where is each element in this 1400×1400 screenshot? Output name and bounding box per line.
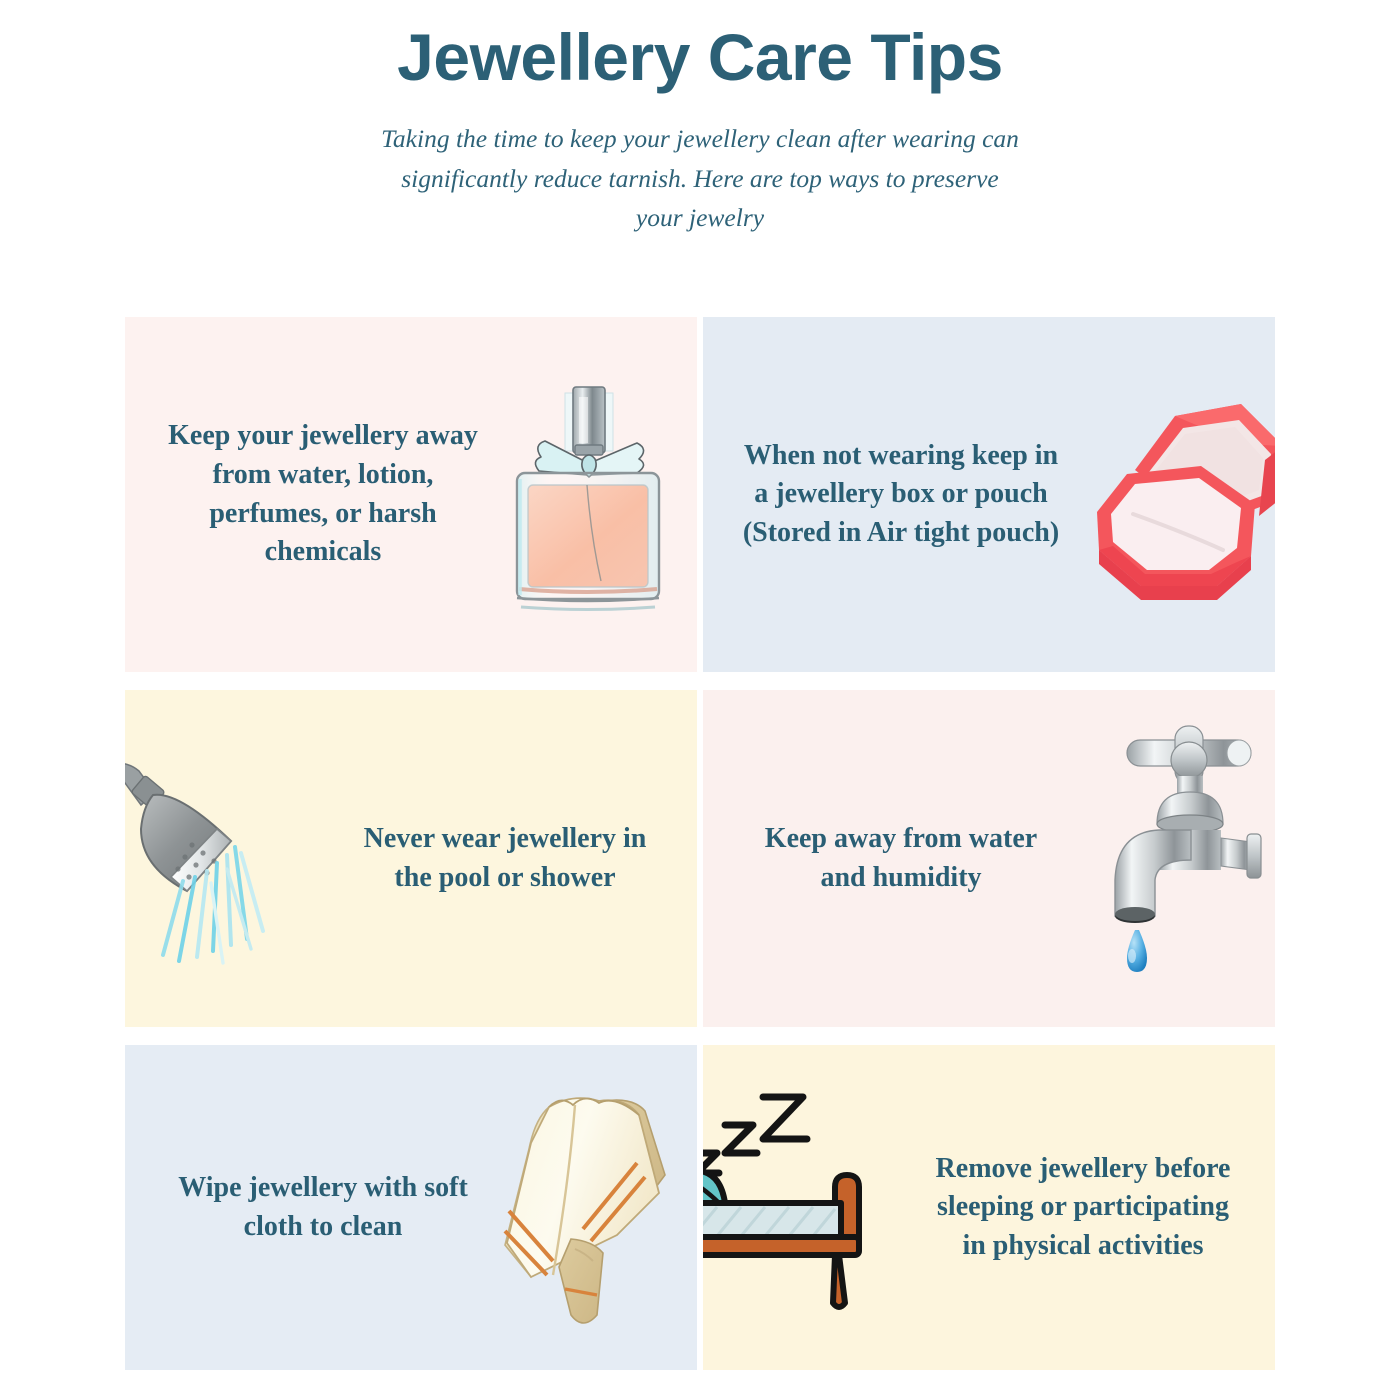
tip-card-text: Wipe jewellery with soft cloth to clean	[153, 1169, 493, 1246]
perfume-bottle-icon	[487, 367, 687, 627]
tip-card-illustration	[493, 317, 697, 672]
shower-head-icon	[125, 749, 329, 969]
tip-card-pool-shower: Never wear jewellery in the pool or show…	[125, 690, 697, 1027]
faucet-icon	[1099, 720, 1275, 990]
tip-card-text: Remove jewellery before sleeping or part…	[913, 1150, 1253, 1266]
page-title: Jewellery Care Tips	[0, 22, 1400, 93]
tip-card-sleeping-activities: Remove jewellery before sleeping or part…	[703, 1045, 1275, 1370]
bed-sleep-icon	[703, 1091, 889, 1321]
tip-card-water-humidity: Keep away from water and humidity	[703, 690, 1275, 1027]
page-header: Jewellery Care Tips Taking the time to k…	[0, 0, 1400, 238]
ring-box-icon	[1083, 374, 1275, 604]
tip-card-text: Keep away from water and humidity	[731, 820, 1071, 897]
tips-grid: Keep your jewellery away from water, lot…	[125, 317, 1275, 1370]
tip-card-illustration	[125, 690, 335, 1027]
infographic-page: Jewellery Care Tips Taking the time to k…	[0, 0, 1400, 1400]
page-subtitle: Taking the time to keep your jewellery c…	[380, 119, 1020, 238]
tip-card-jewellery-box: When not wearing keep in a jewellery box…	[703, 317, 1275, 672]
tip-card-illustration	[1071, 317, 1275, 672]
tip-card-text: Keep your jewellery away from water, lot…	[153, 417, 493, 572]
tip-card-text: When not wearing keep in a jewellery box…	[731, 437, 1071, 553]
tip-card-illustration	[1071, 690, 1275, 1027]
cloth-icon	[487, 1089, 697, 1339]
tip-card-illustration	[493, 1045, 697, 1370]
tip-card-illustration	[703, 1045, 913, 1370]
tip-card-text: Never wear jewellery in the pool or show…	[335, 820, 675, 897]
tip-card-soft-cloth: Wipe jewellery with soft cloth to clean	[125, 1045, 697, 1370]
tip-card-water-lotion-perfumes: Keep your jewellery away from water, lot…	[125, 317, 697, 672]
